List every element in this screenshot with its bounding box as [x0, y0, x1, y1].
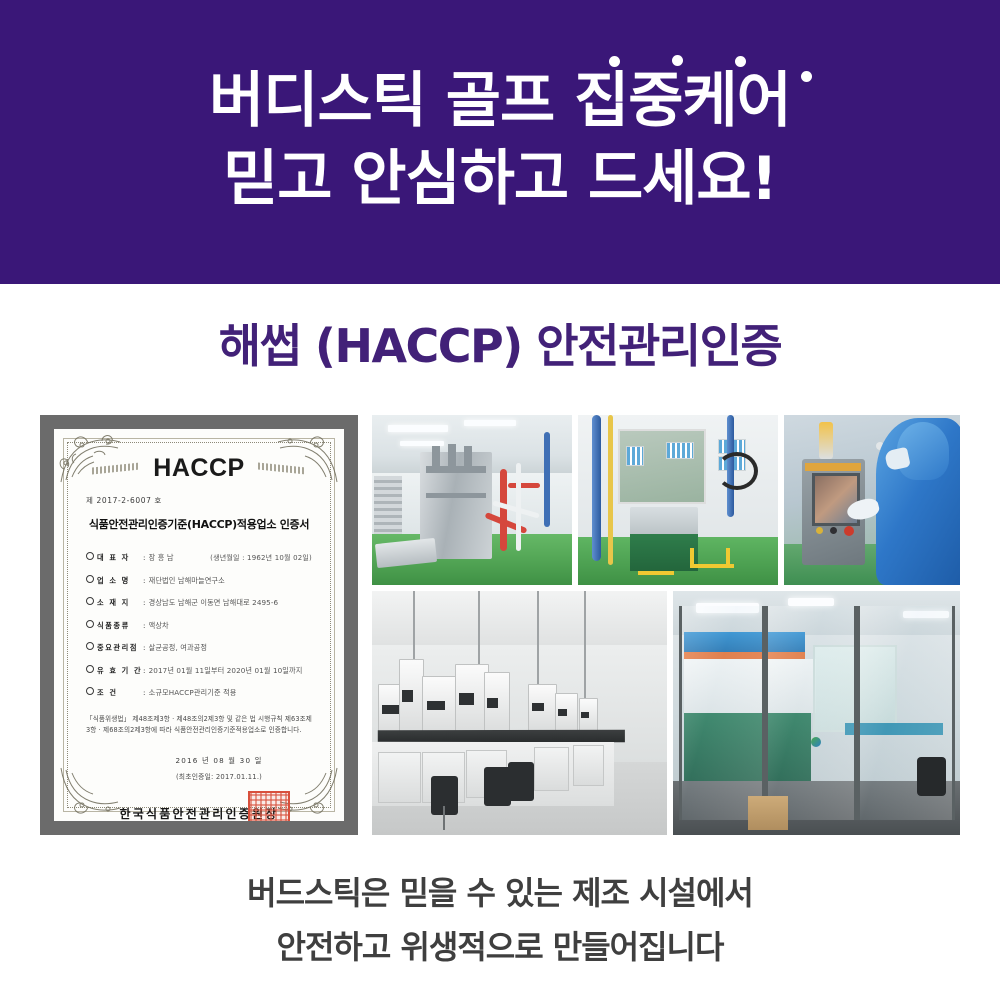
certificate-issue-date: 2016 년 08 월 30 일 [86, 756, 312, 766]
certificate-field-row: 조 건 : 소규모HACCP관리기준 적용 [86, 687, 312, 698]
ceiling-light [388, 425, 448, 432]
panel-button [830, 527, 837, 534]
wall-sign [626, 446, 644, 467]
sink-cabinet [630, 534, 698, 571]
footer-line-2: 안전하고 위생적으로 만들어집니다 [0, 920, 1000, 974]
red-pipe [500, 469, 507, 551]
certificate-legal-note: 「식품위생법」 제48조제3항 · 제48조의2제3항 및 같은 법 시행규칙 … [86, 714, 312, 736]
scroll-ornament-icon [92, 462, 140, 474]
lab-instrument [528, 684, 557, 735]
footer-message: 버드스틱은 믿을 수 있는 제조 시설에서 안전하고 위생적으로 만들어집니다 [0, 866, 1000, 974]
circle-bullet-icon [86, 642, 94, 650]
hero-headline: 버디스틱 골프 집중케어 믿고 안심하고 드세요! [0, 62, 1000, 218]
blue-pipe [592, 415, 601, 561]
certificate-field-value: 재단법인 남해마늘연구소 [149, 576, 225, 586]
certificate-field-value: 소규모HACCP관리기준 적용 [149, 688, 237, 698]
certificate-haccp-wordmark: HACCP [153, 454, 244, 482]
circle-bullet-icon [86, 575, 94, 583]
certificate-field-value: 살균공정, 여과공정 [149, 643, 207, 653]
certificate-field-label: 중요관리점 [97, 643, 143, 653]
glass-panel [765, 606, 857, 821]
lab-instrument [399, 659, 425, 739]
certificate-field-row: 식품종류 : 액상차 [86, 620, 312, 631]
production-line-photo [372, 415, 572, 585]
hero-headline-line-2: 믿고 안심하고 드세요! [0, 140, 1000, 218]
ceiling-light [788, 598, 834, 605]
circle-bullet-icon [86, 597, 94, 605]
notice-board [618, 429, 706, 504]
certificate-field-subnote: (생년월일 : 1962년 10월 02일) [202, 553, 312, 563]
emergency-stop-button [844, 526, 854, 536]
panel-label-strip [805, 463, 861, 472]
red-pipe [508, 483, 540, 488]
certificate-field-label: 대 표 자 [97, 553, 143, 563]
circle-bullet-icon [86, 687, 94, 695]
certificate-field-label: 소 재 지 [97, 598, 143, 608]
certificate-field-row: 대 표 자 : 장 흥 남 (생년월일 : 1962년 10월 02일) [86, 552, 312, 563]
cardboard-box [748, 796, 788, 830]
glass-lab-room-photo [673, 591, 960, 835]
certificate-field-value: 경상남도 남해군 이동면 남해대로 2495-6 [149, 598, 279, 608]
field-colon: : [143, 553, 146, 562]
certificate-field-value: 액상차 [149, 621, 169, 631]
glass-panel [679, 606, 765, 821]
promo-page: 버디스틱 골프 집중케어 믿고 안심하고 드세요! 해썹 (HACCP) 안전관… [0, 0, 1000, 1000]
certificate-first-cert-date: (최초인증일: 2017.01.11.) [86, 771, 312, 781]
floor-marking [690, 548, 694, 568]
machine-detail [426, 493, 486, 498]
floor-marking [638, 571, 674, 575]
blue-pipe [544, 432, 550, 527]
certificate-field-row: 유 효 기 간 : 2017년 01월 11일부터 2020년 01월 10일까… [86, 665, 312, 676]
certificate-document-title: 식품안전관리인증기준(HACCP)적용업소 인증서 [86, 516, 312, 532]
circle-bullet-icon [86, 665, 94, 673]
certificate-field-label: 조 건 [97, 688, 143, 698]
ceiling [372, 591, 667, 645]
official-seal-icon [248, 791, 290, 821]
certificate-field-row: 중요관리점 : 살균공정, 여과공정 [86, 642, 312, 653]
certificate-field-label: 업 소 명 [97, 576, 143, 586]
certificate-field-label: 식품종류 [97, 621, 143, 631]
certificate-haccp-header: HACCP [86, 453, 312, 483]
haccp-certificate-image: HACCP 제 2017-2-6007 호 식품안전관리인증기준(HACCP)적… [40, 415, 358, 835]
machine-detail [464, 446, 472, 470]
handwash-station-photo [578, 415, 778, 585]
machine-detail [432, 446, 440, 470]
field-colon: : [143, 688, 146, 697]
certificate-document-number: 제 2017-2-6007 호 [86, 495, 312, 506]
lab-chair [484, 767, 511, 806]
certificate-field-label: 유 효 기 간 [97, 666, 143, 676]
lab-chair [917, 757, 946, 796]
ceiling-light [464, 420, 516, 426]
certificate-paper: HACCP 제 2017-2-6007 호 식품안전관리인증기준(HACCP)적… [54, 429, 344, 821]
machine-detail [448, 444, 456, 470]
field-colon: : [143, 621, 146, 630]
yellow-pipe [608, 415, 613, 565]
facility-photo-grid [372, 415, 960, 835]
platform-stairs [374, 476, 402, 534]
field-colon: : [143, 598, 146, 607]
certificate-field-list: 대 표 자 : 장 흥 남 (생년월일 : 1962년 10월 02일) 업 소… [86, 552, 312, 698]
field-colon: : [143, 666, 146, 675]
certificate-field-value: 장 흥 남 [149, 553, 174, 563]
lab-chair [443, 806, 445, 830]
wall-sign [666, 442, 694, 459]
certificate-field-value: 2017년 01월 11일부터 2020년 01월 10일까지 [149, 666, 303, 676]
section-title-haccp: 해썹 (HACCP) 안전관리인증 [0, 316, 1000, 376]
certificate-body: HACCP 제 2017-2-6007 호 식품안전관리인증기준(HACCP)적… [68, 441, 330, 811]
bench-cabinet [378, 752, 421, 803]
field-colon: : [143, 643, 146, 652]
certificate-issuer-row: 한국식품안전관리인증원장 [86, 803, 312, 821]
lab-bench-top [378, 730, 625, 743]
certificate-field-row: 소 재 지 : 경상남도 남해군 이동면 남해대로 2495-6 [86, 597, 312, 608]
signal-tower-light [819, 422, 833, 459]
content-area: HACCP 제 2017-2-6007 호 식품안전관리인증기준(HACCP)적… [0, 415, 1000, 835]
operator-control-panel-photo [784, 415, 960, 585]
field-colon: : [143, 576, 146, 585]
ceiling-post [584, 591, 586, 713]
lab-chair [508, 762, 535, 801]
hero-headline-line-1: 버디스틱 골프 집중케어 [0, 62, 1000, 140]
bench-cabinet [534, 747, 568, 790]
circle-bullet-icon [86, 620, 94, 628]
circle-bullet-icon [86, 552, 94, 560]
lab-instrument [555, 693, 578, 734]
panel-button [816, 527, 823, 534]
footer-line-1: 버드스틱은 믿을 수 있는 제조 시설에서 [0, 866, 1000, 920]
certificate-field-row: 업 소 명 : 재단법인 남해마늘연구소 [86, 575, 312, 586]
analysis-lab-photo [372, 591, 667, 835]
bench-cabinet [573, 745, 605, 786]
hero-banner: 버디스틱 골프 집중케어 믿고 안심하고 드세요! [0, 0, 1000, 284]
floor-marking [726, 548, 730, 568]
scroll-ornament-icon [258, 462, 306, 474]
